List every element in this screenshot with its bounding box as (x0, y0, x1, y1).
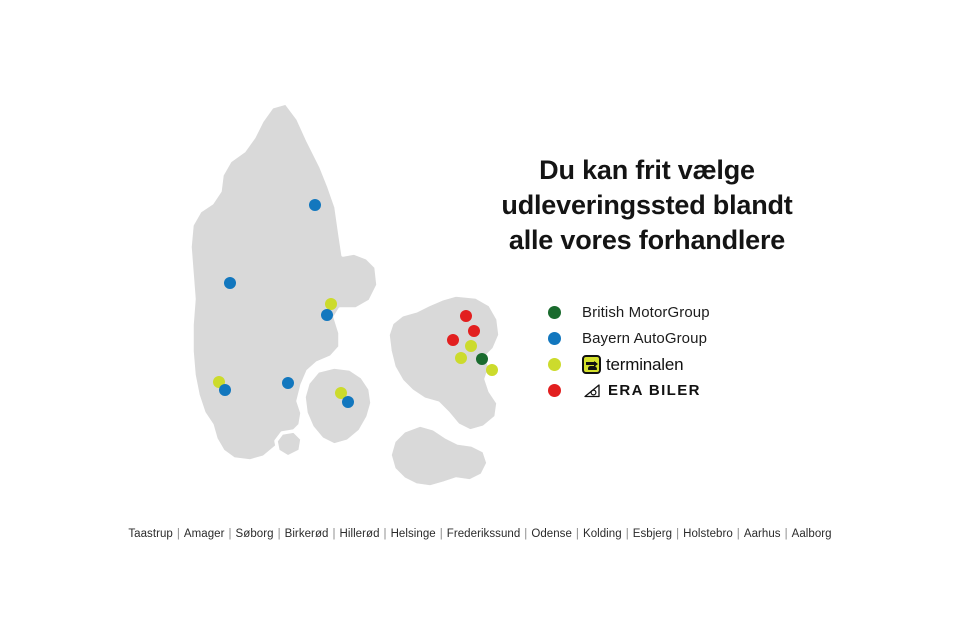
map-region-als (276, 431, 302, 457)
headline-line-3: alle vores forhandlere (452, 223, 842, 258)
city-name-kolding: Kolding (582, 528, 623, 540)
legend-swatch-yellow-dot-icon (548, 358, 561, 371)
legend-label-terminalen: terminalen (606, 355, 683, 375)
poster-canvas: Du kan frit vælge udleveringssted blandt… (0, 0, 960, 640)
map-dot-bayern-autogroup-1 (224, 277, 236, 289)
city-name-frederikssund: Frederikssund (446, 528, 522, 540)
map-dot-era-biler-11 (447, 334, 459, 346)
headline-line-2: udleveringssted blandt (452, 188, 842, 223)
legend-item-terminalen: terminalen (548, 352, 868, 377)
map-dot-bayern-autogroup-8 (342, 396, 354, 408)
city-name-odense: Odense (530, 528, 573, 540)
city-separator: | (275, 528, 284, 540)
terminalen-logo-icon (582, 355, 601, 374)
map-region-funen (304, 367, 372, 445)
map-dot-era-biler-9 (460, 310, 472, 322)
city-separator: | (734, 528, 743, 540)
map-dot-bayern-autogroup-6 (282, 377, 294, 389)
legend-item-era-biler: ERA BILER (548, 378, 868, 403)
city-name-helsinge: Helsinge (390, 528, 437, 540)
city-name-esbjerg: Esbjerg (632, 528, 673, 540)
city-separator: | (226, 528, 235, 540)
legend-body-british: British MotorGroup (582, 300, 710, 325)
map-dot-bayern-autogroup-3 (321, 309, 333, 321)
legend-label-era-biler: ERA BILER (608, 382, 701, 399)
city-separator: | (521, 528, 530, 540)
legend-body-terminalen: terminalen (582, 352, 683, 377)
city-separator: | (573, 528, 582, 540)
map-dot-terminalen-15 (486, 364, 498, 376)
city-name-amager: Amager (183, 528, 226, 540)
city-name-aarhus: Aarhus (743, 528, 782, 540)
map-dot-british-motorgroup-14 (476, 353, 488, 365)
city-separator: | (329, 528, 338, 540)
city-name-holstebro: Holstebro (682, 528, 734, 540)
map-dot-era-biler-10 (468, 325, 480, 337)
legend-body-era: ERA BILER (582, 378, 701, 403)
legend-label-bayern-autogroup: Bayern AutoGroup (582, 330, 707, 347)
page-title: Du kan frit vælge udleveringssted blandt… (452, 153, 842, 258)
city-name-birkerød: Birkerød (284, 528, 330, 540)
legend-body-bayern: Bayern AutoGroup (582, 326, 707, 351)
brand-legend: British MotorGroup Bayern AutoGroup term… (548, 300, 868, 404)
city-separator: | (623, 528, 632, 540)
headline-line-1: Du kan frit vælge (452, 153, 842, 188)
legend-label-british-motorgroup: British MotorGroup (582, 304, 710, 321)
city-name-aalborg: Aalborg (791, 528, 833, 540)
city-name-taastrup: Taastrup (127, 528, 174, 540)
map-dot-bayern-autogroup-5 (219, 384, 231, 396)
city-name-hillerød: Hillerød (339, 528, 381, 540)
city-separator: | (437, 528, 446, 540)
map-dot-terminalen-13 (455, 352, 467, 364)
city-separator: | (381, 528, 390, 540)
map-dot-terminalen-12 (465, 340, 477, 352)
legend-swatch-green-dot-icon (548, 306, 561, 319)
legend-item-british-motorgroup: British MotorGroup (548, 300, 868, 325)
map-dot-bayern-autogroup-0 (309, 199, 321, 211)
legend-swatch-blue-dot-icon (548, 332, 561, 345)
city-separator: | (673, 528, 682, 540)
city-name-søborg: Søborg (235, 528, 275, 540)
city-list: Taastrup|Amager|Søborg|Birkerød|Hillerød… (0, 528, 960, 540)
era-biler-logo-icon (582, 383, 602, 399)
legend-item-bayern-autogroup: Bayern AutoGroup (548, 326, 868, 351)
legend-swatch-red-dot-icon (548, 384, 561, 397)
map-region-lolland-falster (390, 425, 488, 487)
city-separator: | (782, 528, 791, 540)
city-separator: | (174, 528, 183, 540)
